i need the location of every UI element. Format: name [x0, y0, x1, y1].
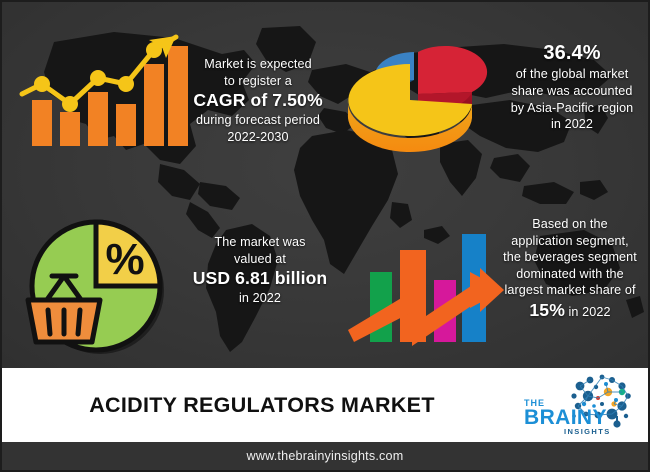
shopping-basket-percent-pie-icon: %	[24, 218, 174, 354]
segment-line-2: application segment,	[490, 233, 648, 250]
page-title: ACIDITY REGULATORS MARKET	[2, 368, 522, 442]
brainy-insights-logo[interactable]: THE BRAINY INSIGHTS	[518, 372, 636, 438]
logo-insights: INSIGHTS	[564, 427, 611, 436]
cagr-line-2: to register a	[178, 73, 338, 90]
pie-chart-3d-icon	[344, 26, 492, 156]
region-share-line-4: in 2022	[494, 116, 648, 133]
stat-market-value-text: The market was valued at USD 6.81 billio…	[178, 234, 342, 307]
region-share-line-1: of the global market	[494, 66, 648, 83]
market-value-line-4: in 2022	[178, 290, 342, 307]
segment-line-1: Based on the	[490, 216, 648, 233]
bar-chart-arrow-icon	[344, 208, 508, 348]
market-value-amount: USD 6.81 billion	[178, 267, 342, 290]
percent-symbol: %	[105, 235, 144, 284]
segment-line-4: dominated with the	[490, 266, 648, 283]
segment-year: in 2022	[565, 305, 611, 319]
segment-line-5: largest market share of	[490, 282, 648, 299]
stat-segment-text: Based on the application segment, the be…	[490, 216, 648, 322]
website-url[interactable]: www.thebrainyinsights.com	[2, 442, 648, 470]
region-share-value: 36.4%	[494, 40, 648, 66]
cagr-line-1: Market is expected	[178, 56, 338, 73]
bar-line-growth-icon	[16, 28, 190, 150]
infographic-root: Market is expected to register a CAGR of…	[0, 0, 650, 472]
market-value-line-1: The market was	[178, 234, 342, 251]
segment-share-value: 15%	[529, 300, 565, 320]
segment-line-3: the beverages segment	[490, 249, 648, 266]
region-share-line-2: share was accounted	[494, 83, 648, 100]
infographic-body: Market is expected to register a CAGR of…	[2, 2, 648, 368]
cagr-line-5: 2022-2030	[178, 129, 338, 146]
stat-cagr-text: Market is expected to register a CAGR of…	[178, 56, 338, 146]
footer-band: ACIDITY REGULATORS MARKET	[2, 368, 648, 442]
logo-brainy: BRAINY	[524, 406, 607, 429]
stat-region-share-text: 36.4% of the global market share was acc…	[494, 40, 648, 133]
region-share-line-3: by Asia-Pacific region	[494, 100, 648, 117]
market-value-line-2: valued at	[178, 251, 342, 268]
cagr-line-4: during forecast period	[178, 112, 338, 129]
cagr-value: CAGR of 7.50%	[178, 89, 338, 112]
